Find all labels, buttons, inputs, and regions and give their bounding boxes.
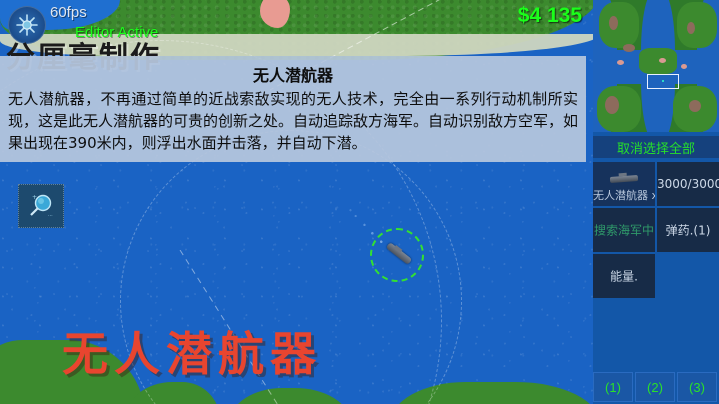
description-title: 无人潜航器 bbox=[8, 62, 578, 86]
status-card: 搜索海军中 bbox=[593, 208, 655, 252]
unit-info-grid: 无人潜航器 x1 3000/3000 搜索海军中 弹药.(1) 能量. bbox=[593, 162, 719, 300]
ability-button-2[interactable]: (2) bbox=[635, 372, 675, 402]
minimap-land-nw bbox=[599, 2, 639, 48]
ability-button-3-label: (3) bbox=[689, 380, 705, 395]
health-card: 3000/3000 bbox=[657, 162, 719, 206]
energy-value: 能量. bbox=[593, 268, 655, 285]
ability-button-1[interactable]: (1) bbox=[593, 372, 633, 402]
unit-card-label: 无人潜航器 x1 bbox=[593, 187, 655, 203]
ammo-card[interactable]: 弹药.(1) bbox=[657, 208, 719, 252]
unit-info-row-3: 能量. bbox=[593, 254, 719, 298]
minimap-marker-2 bbox=[659, 58, 666, 63]
submarine-icon bbox=[610, 175, 638, 183]
minimap-unit-dot bbox=[662, 80, 664, 82]
energy-card: 能量. bbox=[593, 254, 655, 298]
minimap-rock-1 bbox=[609, 16, 618, 30]
minimap-rock-3 bbox=[687, 22, 695, 34]
minimap-land-mid bbox=[639, 48, 677, 74]
ability-button-bar: (1) (2) (3) bbox=[593, 372, 719, 402]
description-body: 无人潜航器，不再通过简单的近战索敌实现的无人技术，完全由一系列行动机制所实现，这… bbox=[8, 89, 578, 154]
minimap-marker-1 bbox=[617, 60, 624, 65]
minimap-rock-4 bbox=[605, 96, 619, 114]
minimap-rock-2 bbox=[623, 44, 635, 52]
ability-button-1-label: (1) bbox=[605, 380, 621, 395]
svg-text:···: ··· bbox=[48, 213, 53, 219]
magnifier-icon: + ··· bbox=[26, 191, 56, 221]
deselect-all-button[interactable]: 取消选择全部 bbox=[593, 136, 719, 158]
empty-slot bbox=[657, 254, 719, 298]
ability-button-2-label: (2) bbox=[647, 380, 663, 395]
unit-info-row-1: 无人潜航器 x1 3000/3000 bbox=[593, 162, 719, 206]
health-value: 3000/3000 bbox=[657, 177, 719, 191]
svg-text:+: + bbox=[32, 194, 37, 201]
minimap-marker-3 bbox=[681, 64, 687, 69]
deselect-all-label: 取消选择全部 bbox=[617, 138, 695, 157]
minimap-rock-5 bbox=[689, 100, 701, 112]
unit-card[interactable]: 无人潜航器 x1 bbox=[593, 162, 655, 206]
minimap-land-ne bbox=[677, 2, 717, 48]
search-tool-panel[interactable]: + ··· bbox=[18, 184, 64, 228]
minimap-land-sw bbox=[597, 86, 641, 132]
unit-name-overlay: 无人潜航器 bbox=[62, 318, 322, 384]
ability-button-3[interactable]: (3) bbox=[677, 372, 717, 402]
unit-description-panel: 无人潜航器 无人潜航器，不再通过简单的近战索敌实现的无人技术，完全由一系列行动机… bbox=[0, 56, 586, 162]
status-value: 搜索海军中 bbox=[593, 222, 655, 239]
fps-counter: 60fps bbox=[50, 4, 87, 21]
right-sidebar: 取消选择全部 无人潜航器 x1 3000/3000 搜索海军中 弹药.(1) bbox=[593, 0, 719, 404]
ammo-value: 弹药.(1) bbox=[657, 222, 719, 239]
money-display: $4 135 bbox=[518, 4, 582, 28]
selected-unit-submarine[interactable] bbox=[370, 228, 426, 284]
minimap[interactable] bbox=[593, 0, 719, 132]
game-screen: + ··· 60fps Editor Active $4 135 分厘毫制作 无… bbox=[0, 0, 719, 404]
unit-info-row-2: 搜索海军中 弹药.(1) bbox=[593, 208, 719, 252]
